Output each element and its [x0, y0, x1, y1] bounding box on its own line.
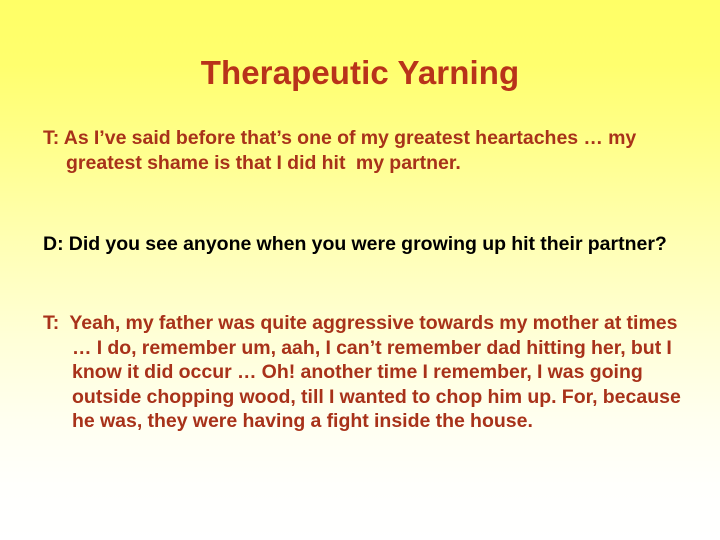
transcript-text: Yeah, my father was quite aggressive tow…: [59, 312, 686, 432]
speaker-tag-d: D:: [43, 233, 64, 255]
transcript-paragraph-therapist-2: T: Yeah, my father was quite aggressive …: [43, 311, 697, 434]
transcript-text: Did you see anyone when you were growing…: [64, 233, 667, 255]
transcript-text: As I’ve said before that’s one of my gre…: [59, 127, 641, 174]
presentation-slide: Therapeutic Yarning T: As I’ve said befo…: [0, 0, 720, 540]
page-title: Therapeutic Yarning: [0, 54, 720, 92]
transcript-paragraph-therapist-1: T: As I’ve said before that’s one of my …: [43, 126, 691, 175]
speaker-tag-t: T:: [43, 312, 59, 334]
speaker-tag-t: T:: [43, 127, 59, 149]
transcript-paragraph-interviewer-1: D: Did you see anyone when you were grow…: [43, 232, 691, 257]
